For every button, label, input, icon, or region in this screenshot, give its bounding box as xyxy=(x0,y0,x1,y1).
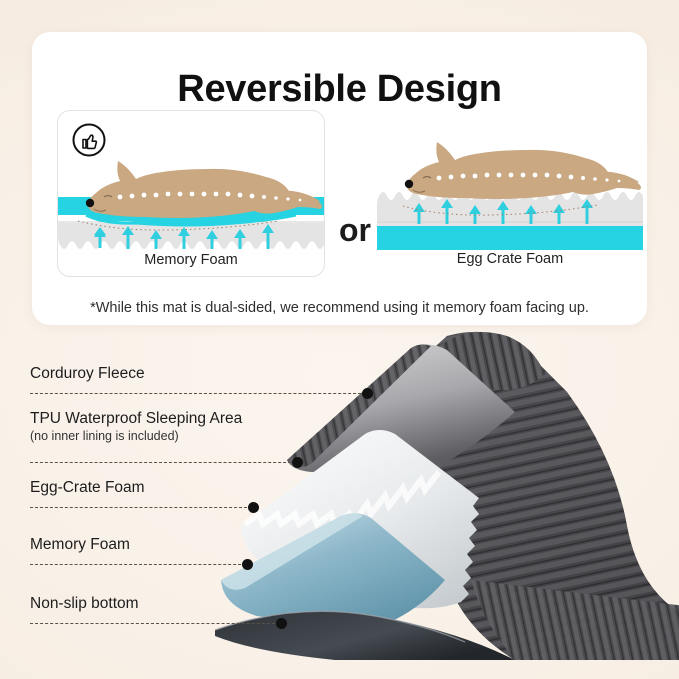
callout-corduroy-fleece: Corduroy Fleece xyxy=(30,365,145,383)
thumbs-up-icon xyxy=(70,121,108,159)
callout-title: Corduroy Fleece xyxy=(30,365,145,383)
callout-title: Non-slip bottom xyxy=(30,595,139,613)
dog-illustration xyxy=(86,161,322,218)
leader-dot-corduroy-fleece xyxy=(362,388,373,399)
callout-tpu-waterproof: TPU Waterproof Sleeping Area (no inner l… xyxy=(30,410,242,443)
panel-egg-crate-foam: Egg Crate Foam xyxy=(377,110,643,275)
callout-title: Memory Foam xyxy=(30,536,130,554)
infographic-root: Reversible Design xyxy=(0,0,679,679)
leader-dot-non-slip-bottom xyxy=(276,618,287,629)
callout-title: Egg-Crate Foam xyxy=(30,479,145,497)
leader-line-non-slip-bottom xyxy=(30,623,280,625)
panel-memory-foam: Memory Foam xyxy=(57,110,325,277)
callout-egg-crate-foam: Egg-Crate Foam xyxy=(30,479,145,497)
separator-or: or xyxy=(335,212,375,249)
callout-subtitle: (no inner lining is included) xyxy=(30,429,242,443)
leader-line-tpu-waterproof xyxy=(30,462,296,464)
callout-title: TPU Waterproof Sleeping Area xyxy=(30,410,242,428)
callout-non-slip-bottom: Non-slip bottom xyxy=(30,595,139,613)
leader-dot-memory-foam xyxy=(242,559,253,570)
page-title: Reversible Design xyxy=(32,68,647,111)
footnote-text: *While this mat is dual-sided, we recomm… xyxy=(32,300,647,316)
leader-line-corduroy-fleece xyxy=(30,393,366,395)
leader-line-memory-foam xyxy=(30,564,246,566)
panel-caption-egg-crate-foam: Egg Crate Foam xyxy=(377,251,643,267)
dog-illustration xyxy=(405,142,641,199)
leader-dot-tpu-waterproof xyxy=(292,457,303,468)
callout-memory-foam: Memory Foam xyxy=(30,536,130,554)
layer-callouts: Corduroy Fleece TPU Waterproof Sleeping … xyxy=(0,355,679,645)
panel-caption-memory-foam: Memory Foam xyxy=(58,252,324,268)
leader-line-egg-crate-foam xyxy=(30,507,252,509)
leader-dot-egg-crate-foam xyxy=(248,502,259,513)
reversible-design-card: Reversible Design xyxy=(32,32,647,325)
